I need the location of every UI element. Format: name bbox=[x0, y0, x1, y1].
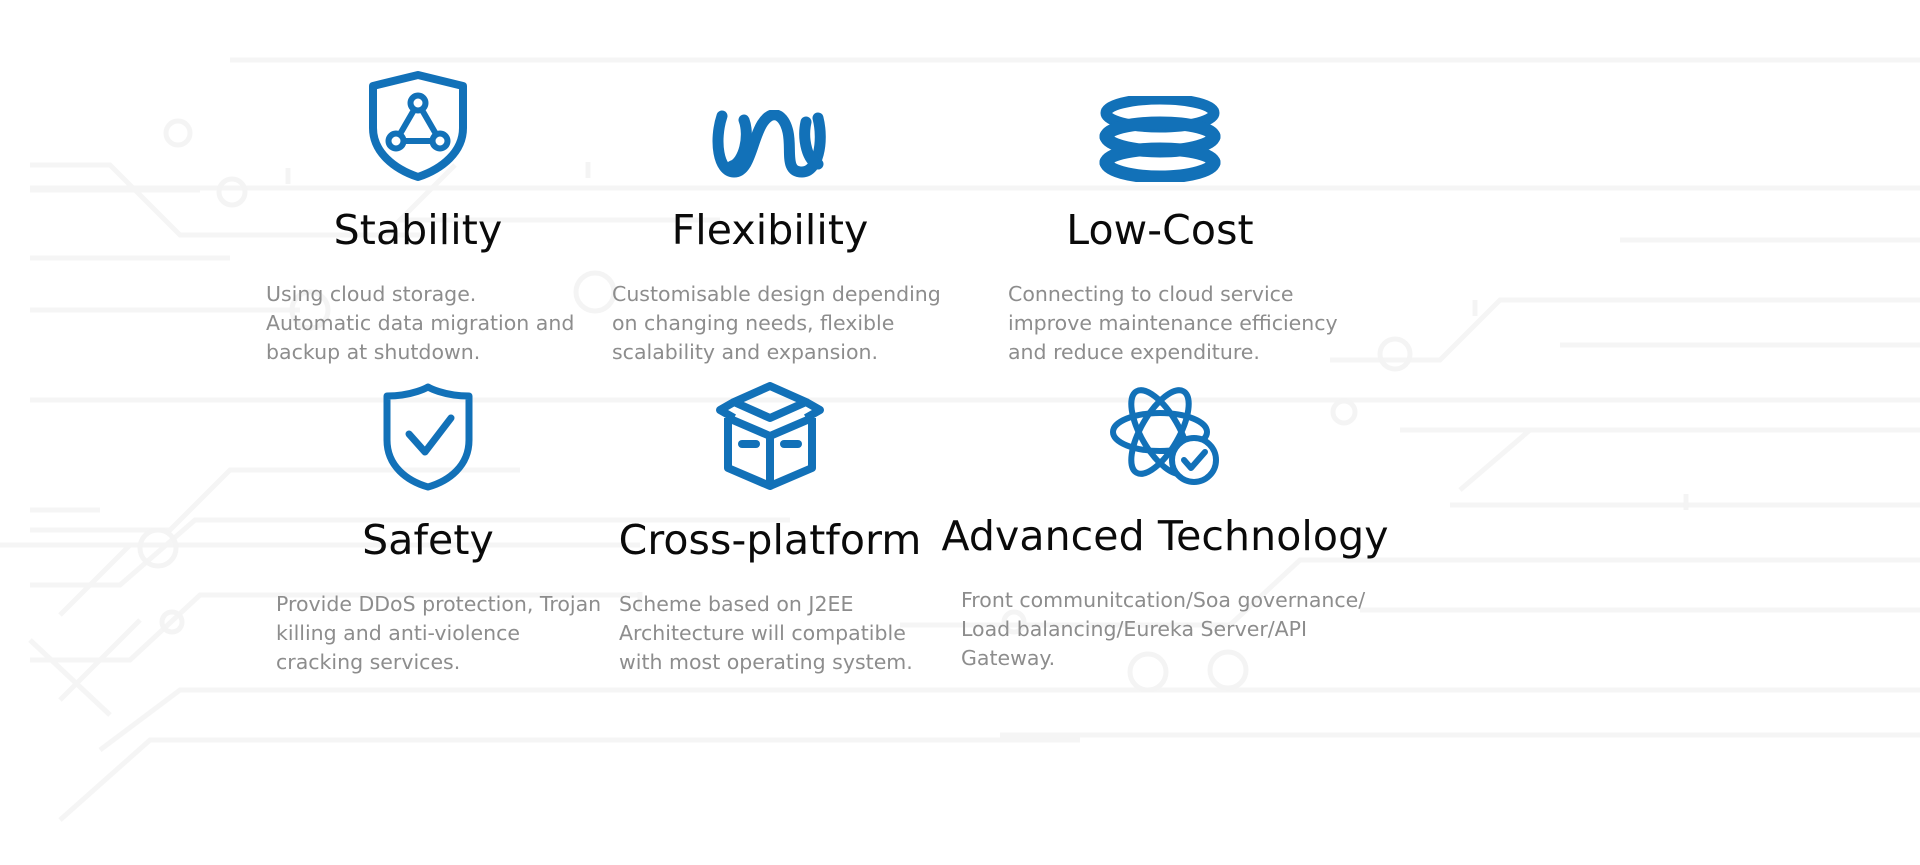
feature-grid: Stability Using cloud storage. Automatic… bbox=[0, 0, 1920, 865]
feature-card-safety: Safety Provide DDoS protection, Trojan k… bbox=[248, 372, 608, 677]
feature-card-low-cost: Low-Cost Connecting to cloud service imp… bbox=[960, 62, 1360, 367]
feature-card-flexibility: Flexibility Customisable design dependin… bbox=[590, 62, 950, 367]
feature-description: Connecting to cloud service improve main… bbox=[960, 280, 1358, 367]
feature-card-stability: Stability Using cloud storage. Automatic… bbox=[238, 62, 598, 367]
feature-description: Front communitcation/Soa governance/ Loa… bbox=[935, 586, 1401, 673]
feature-title: Advanced Technology bbox=[935, 514, 1395, 559]
feature-card-advanced-technology: Advanced Technology Front communitcation… bbox=[935, 368, 1395, 673]
atom-check-icon bbox=[935, 368, 1395, 488]
feature-title: Low-Cost bbox=[960, 208, 1360, 253]
feature-card-cross-platform: Cross-platform Scheme based on J2EE Arch… bbox=[585, 372, 955, 677]
feature-title: Flexibility bbox=[590, 208, 950, 253]
feature-title: Stability bbox=[238, 208, 598, 253]
flexible-wave-icon bbox=[590, 62, 950, 182]
feature-description: Customisable design depending on changin… bbox=[590, 280, 942, 367]
feature-description: Using cloud storage. Automatic data migr… bbox=[238, 280, 586, 367]
feature-description: Provide DDoS protection, Trojan killing … bbox=[248, 590, 606, 677]
cube-box-icon bbox=[585, 372, 955, 492]
feature-title: Cross-platform bbox=[585, 518, 955, 563]
feature-description: Scheme based on J2EE Architecture will c… bbox=[585, 590, 949, 677]
feature-title: Safety bbox=[248, 518, 608, 563]
shield-check-icon bbox=[248, 372, 608, 492]
shield-network-icon bbox=[238, 62, 598, 182]
database-stack-icon bbox=[960, 62, 1360, 182]
